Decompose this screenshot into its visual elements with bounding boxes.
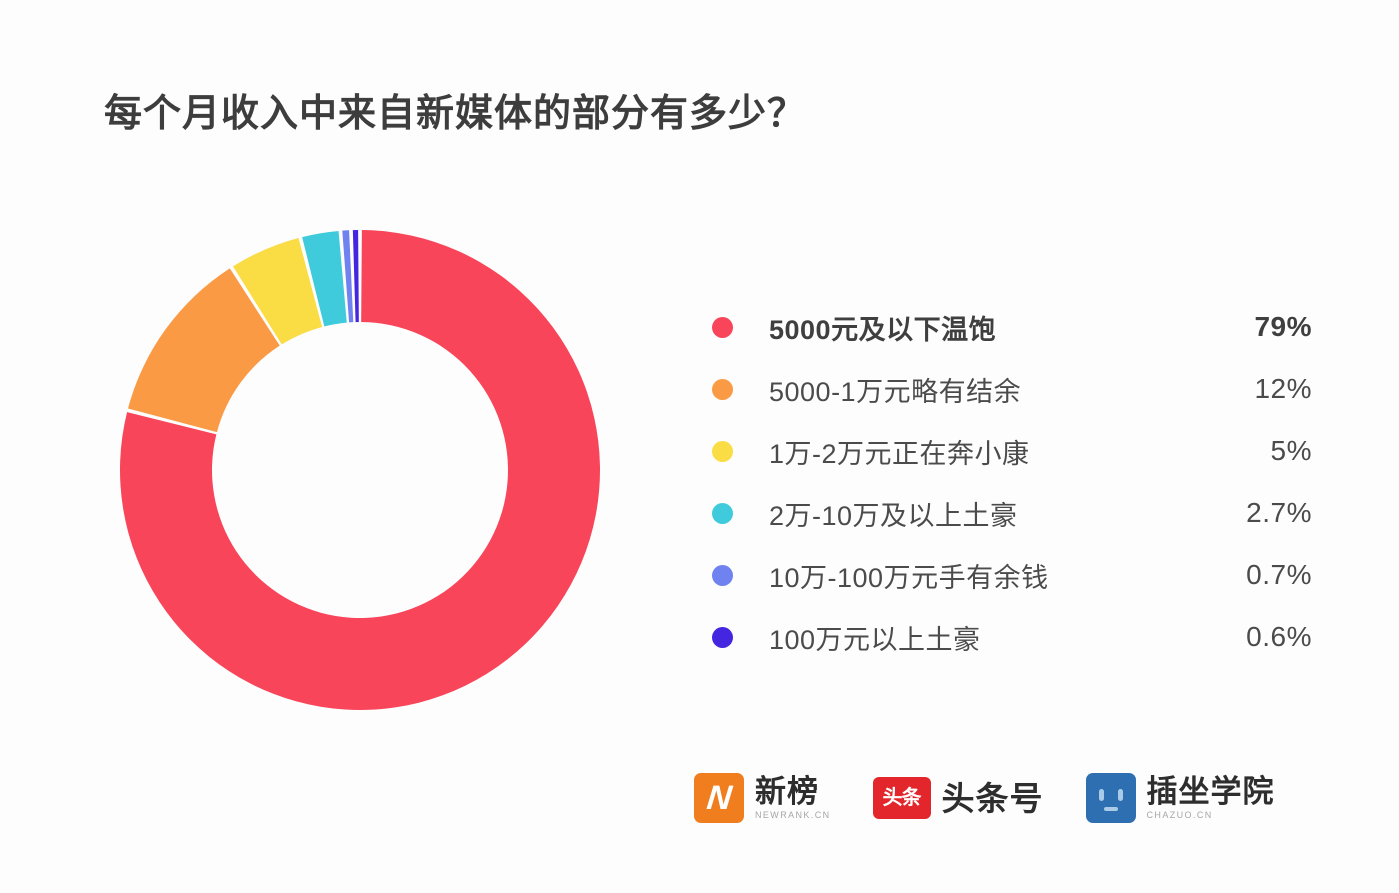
face-mouth (1104, 807, 1118, 811)
legend-item[interactable]: 5000-1万元略有结余12% (712, 358, 1312, 420)
legend-item-value: 12% (1192, 373, 1312, 405)
legend-item-label: 2万-10万及以上土豪 (769, 494, 1192, 533)
legend-item-label: 5000-1万元略有结余 (769, 370, 1192, 409)
chart-page: 每个月收入中来自新媒体的部分有多少？ 5000元及以下温饱79%5000-1万元… (0, 0, 1399, 893)
legend-color-dot (712, 627, 733, 648)
chazuo-logo-name: 插坐学院 (1147, 776, 1275, 807)
legend: 5000元及以下温饱79%5000-1万元略有结余12%1万-2万元正在奔小康5… (712, 296, 1312, 668)
legend-item-value: 79% (1192, 311, 1312, 343)
toutiao-logo-icon: 头条 (873, 777, 931, 819)
legend-color-dot (712, 503, 733, 524)
newrank-mark-glyph: N (705, 781, 733, 815)
toutiao-logo-name: 头条号 (942, 782, 1044, 815)
newrank-logo-icon: N (694, 773, 744, 823)
donut-slices (120, 230, 600, 710)
chazuo-logo-sub: CHAZUO.CN (1147, 811, 1275, 820)
footer-logos: N 新榜 NEWRANK.CN 头条 头条号 (694, 773, 1275, 823)
legend-color-dot (712, 565, 733, 586)
legend-item-label: 5000元及以下温饱 (769, 308, 1192, 347)
donut-slice[interactable] (353, 230, 359, 322)
legend-item[interactable]: 2万-10万及以上土豪2.7% (712, 482, 1312, 544)
legend-item-value: 2.7% (1192, 497, 1312, 529)
newrank-logo-text: 新榜 NEWRANK.CN (755, 776, 831, 820)
donut-svg (112, 222, 608, 718)
legend-item-label: 1万-2万元正在奔小康 (769, 432, 1192, 471)
legend-item[interactable]: 10万-100万元手有余钱0.7% (712, 544, 1312, 606)
legend-item[interactable]: 5000元及以下温饱79% (712, 296, 1312, 358)
logo-chazuo[interactable]: 插坐学院 CHAZUO.CN (1086, 773, 1275, 823)
face-eye-left (1099, 789, 1104, 801)
legend-item-value: 0.6% (1192, 621, 1312, 653)
chazuo-logo-icon (1086, 773, 1136, 823)
legend-item-value: 0.7% (1192, 559, 1312, 591)
newrank-logo-sub: NEWRANK.CN (755, 811, 831, 820)
legend-item-value: 5% (1192, 435, 1312, 467)
legend-item-label: 10万-100万元手有余钱 (769, 556, 1192, 595)
chazuo-face-icon (1086, 773, 1136, 823)
newrank-logo-name: 新榜 (755, 776, 831, 807)
legend-color-dot (712, 441, 733, 462)
toutiao-mark-glyph: 头条 (883, 788, 921, 808)
logo-newrank[interactable]: N 新榜 NEWRANK.CN (694, 773, 831, 823)
legend-item[interactable]: 100万元以上土豪0.6% (712, 606, 1312, 668)
legend-color-dot (712, 317, 733, 338)
donut-chart (112, 222, 608, 718)
logo-toutiao[interactable]: 头条 头条号 (873, 777, 1044, 819)
page-title: 每个月收入中来自新媒体的部分有多少？ (104, 82, 806, 137)
legend-item[interactable]: 1万-2万元正在奔小康5% (712, 420, 1312, 482)
legend-color-dot (712, 379, 733, 400)
face-eye-right (1118, 789, 1123, 801)
legend-item-label: 100万元以上土豪 (769, 618, 1192, 657)
toutiao-logo-text: 头条号 (942, 782, 1044, 815)
chazuo-logo-text: 插坐学院 CHAZUO.CN (1147, 776, 1275, 820)
